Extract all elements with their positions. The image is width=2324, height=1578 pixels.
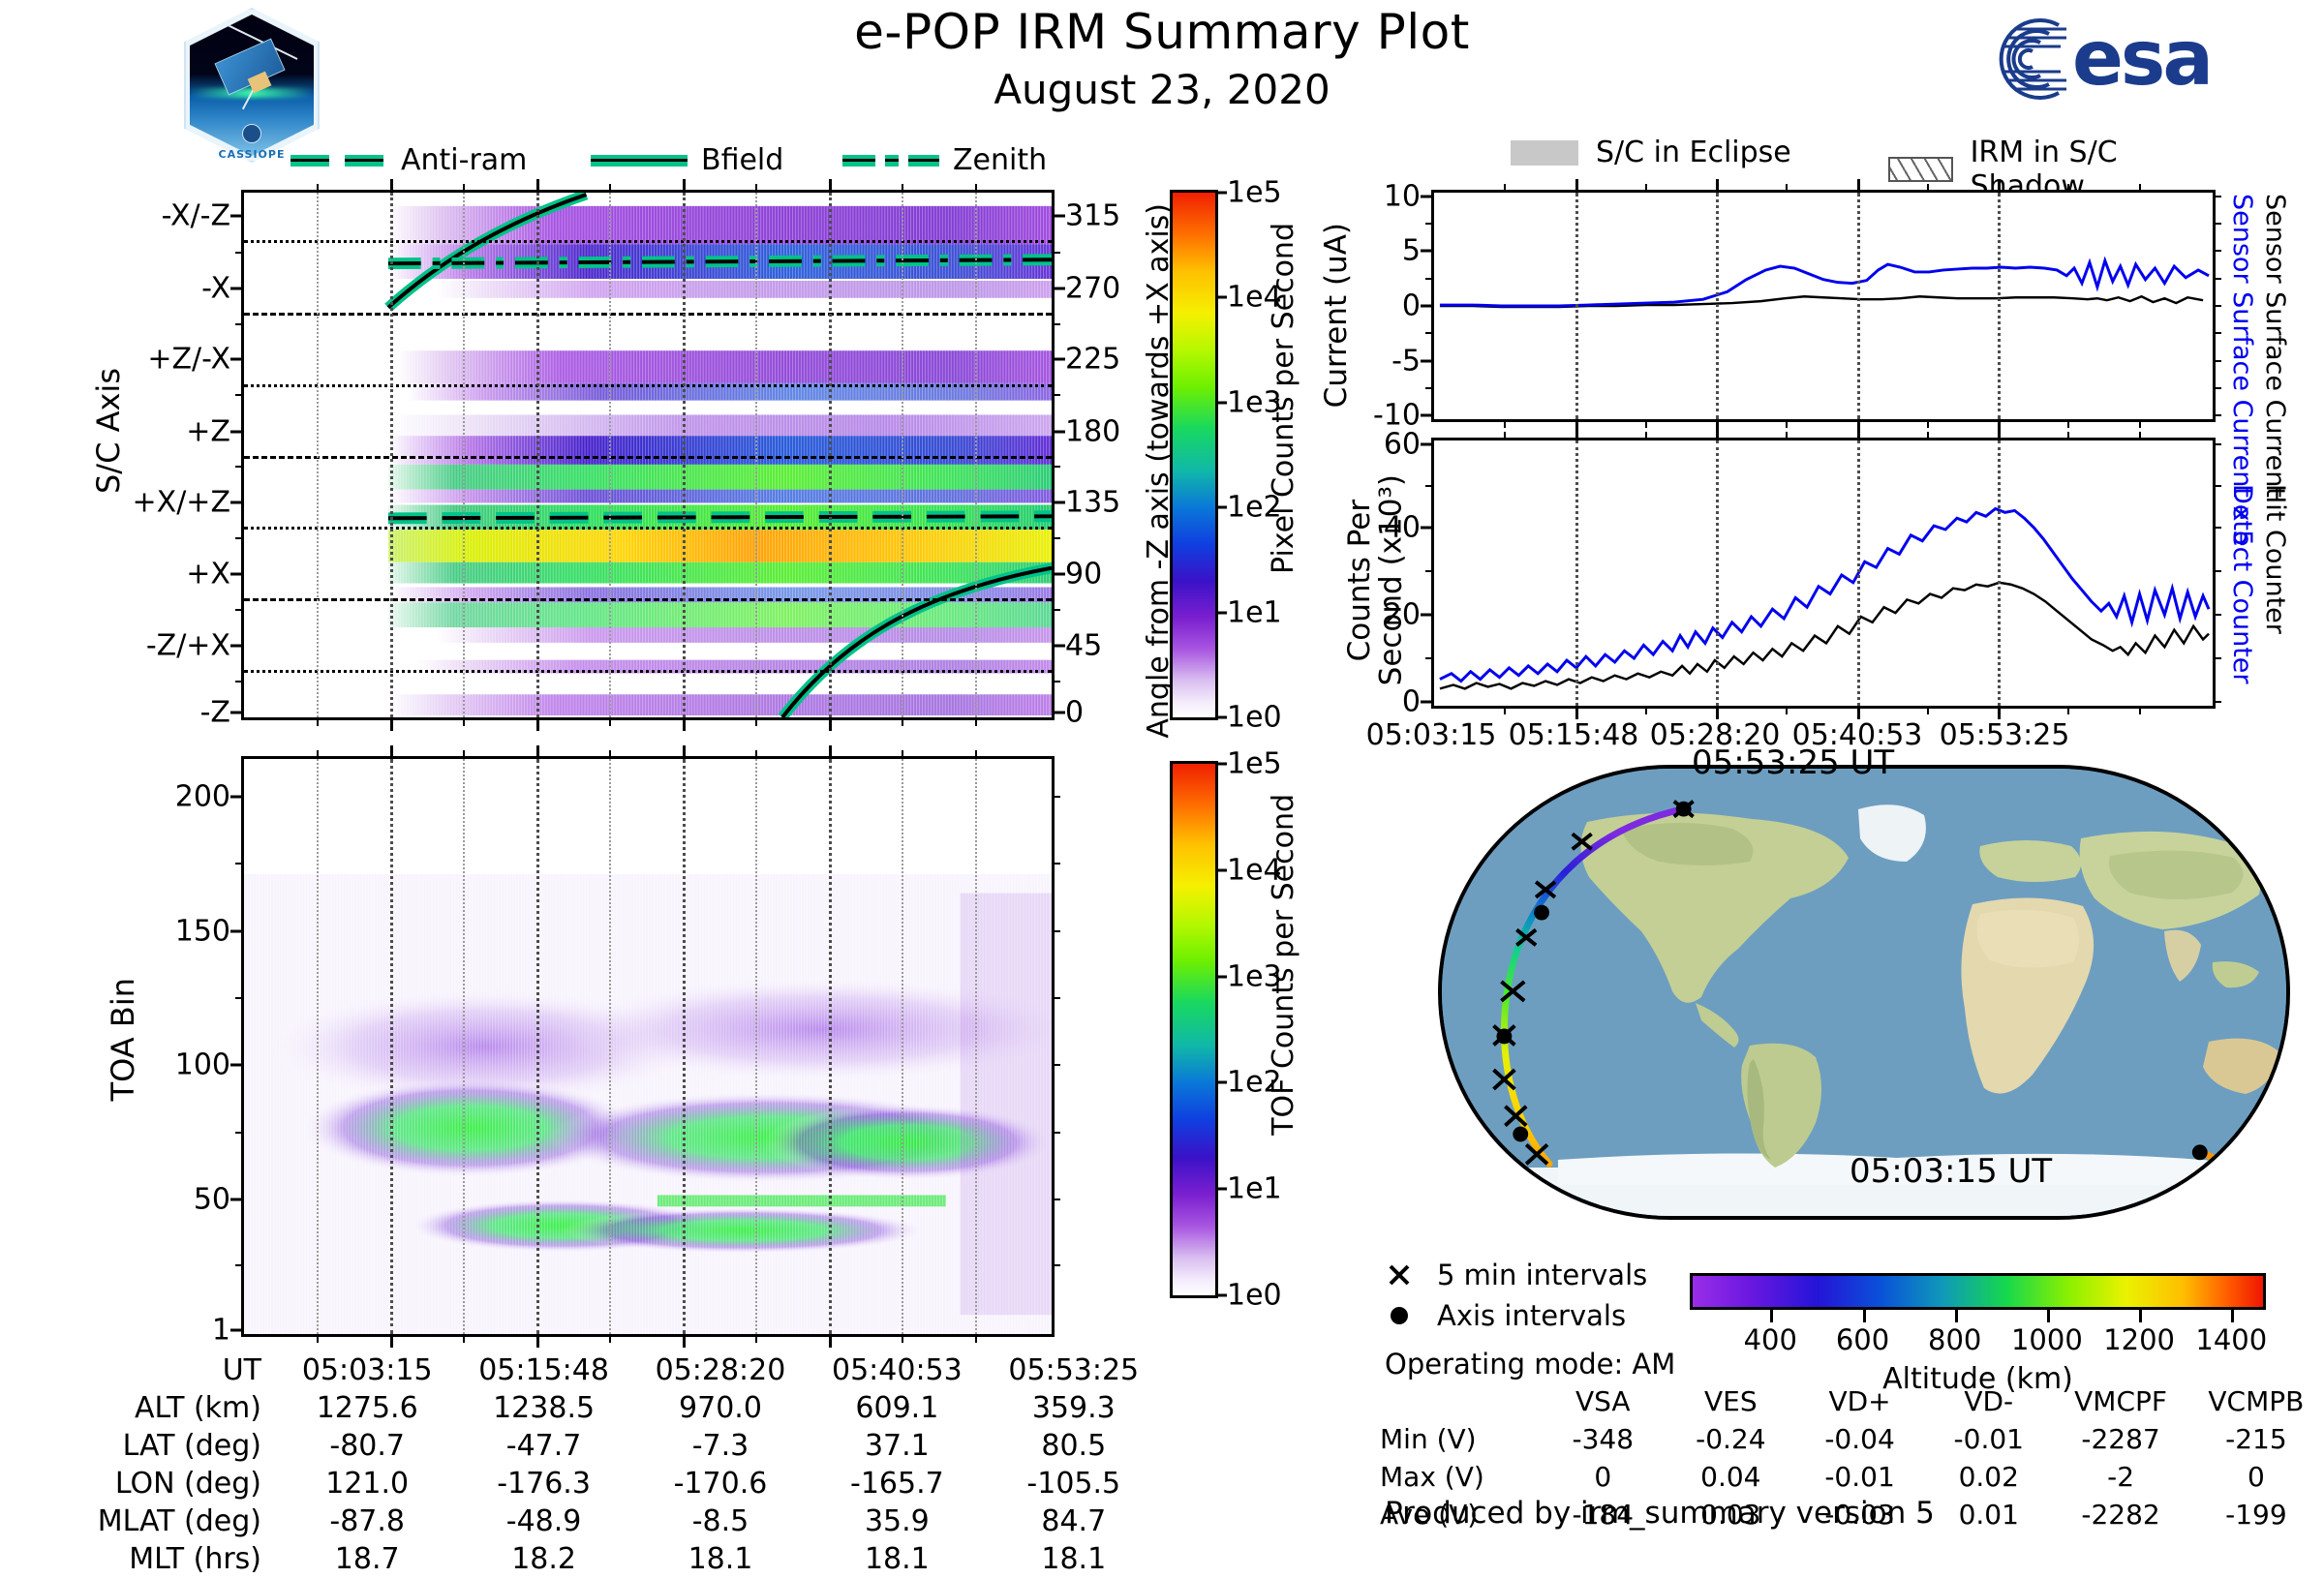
table-row: MLT (hrs) 18.7 18.2 18.1 18.1 18.1	[58, 1540, 1162, 1578]
sensor-current-panel[interactable]: 10 5 0 -5 -10	[1431, 190, 2216, 422]
table-row: LAT (deg) -80.7 -47.7 -7.3 37.1 80.5	[58, 1427, 1162, 1465]
legend-label-eclipse: S/C in Eclipse	[1596, 136, 1791, 169]
cell: -215	[2188, 1420, 2324, 1458]
altitude-colorbar: 400 600 800 1000 1200 1400 Altitude (km)	[1690, 1273, 2266, 1310]
table-header-row: VSA VES VD+ VD- VMCPF VCMPB	[1380, 1382, 2324, 1420]
cnt-xtick: 05:53:25	[1937, 718, 2072, 752]
row-label: ALT (km)	[58, 1389, 279, 1427]
cell: 84.7	[986, 1502, 1162, 1540]
col-header: VMCPF	[2053, 1382, 2187, 1420]
bfield-line-icon	[591, 155, 688, 167]
gridline-h	[244, 598, 1052, 601]
cell: 05:15:48	[455, 1351, 631, 1389]
spectrogram-legend: Anti-ram Bfield Zenith	[290, 143, 1026, 178]
gridline-h	[244, 313, 1052, 316]
cell: 35.9	[809, 1502, 985, 1540]
orbit-info-table: UT 05:03:15 05:15:48 05:28:20 05:40:53 0…	[58, 1351, 1162, 1578]
cell: -0.01	[1924, 1420, 2053, 1458]
legend-item-bfield: Bfield	[591, 143, 783, 177]
legend-label-bfield: Bfield	[701, 143, 783, 177]
toa-spectrogram-image	[244, 759, 1052, 1334]
anti-ram-line-icon	[290, 155, 387, 167]
cell: -2	[2053, 1458, 2187, 1496]
pixel-counts-colorbar: 1e5 1e4 1e3 1e2 1e1 1e0	[1170, 190, 1218, 720]
table-row: LON (deg) 121.0 -176.3 -170.6 -165.7 -10…	[58, 1465, 1162, 1502]
cell: 121.0	[279, 1465, 455, 1502]
footer-text: Produced by irm_summary version 5	[1385, 1496, 1935, 1531]
cnt-ytick: 60	[1384, 428, 1421, 462]
dot-marker-icon	[1385, 1301, 1414, 1330]
toa-ytick: 1	[212, 1313, 230, 1347]
cell: 0	[1540, 1458, 1667, 1496]
zenith-line-icon	[842, 155, 939, 167]
legend-item-anti-ram: Anti-ram	[290, 143, 527, 177]
cb-tick: 1e1	[1227, 595, 1282, 629]
legend-item-5min: 5 min intervals	[1385, 1259, 1675, 1291]
alt-tick: 1400	[2181, 1323, 2281, 1356]
spec-ytick-left: -X	[201, 271, 230, 305]
spec-ytick-right: 225	[1065, 343, 1120, 377]
toa-bin-spectrogram-panel[interactable]: 200 150 100 50 1	[241, 756, 1055, 1337]
table-row: Min (V) -348 -0.24 -0.04 -0.01 -2287 -21…	[1380, 1420, 2324, 1458]
cell: 1275.6	[279, 1389, 455, 1427]
cnt-xtick: 05:03:15	[1363, 718, 1499, 752]
cell: -7.3	[632, 1427, 809, 1465]
tof-counts-colorbar-title: TOF Counts per Second	[1267, 794, 1300, 1136]
map-label-end-time: 05:53:25 UT	[1692, 743, 1894, 782]
spec-ytick-right: 45	[1065, 629, 1102, 663]
row-label: Min (V)	[1380, 1420, 1540, 1458]
spec-ytick-right: 0	[1065, 695, 1084, 729]
counts-per-second-panel[interactable]: 60 40 20 0	[1431, 438, 2216, 709]
cell: 0	[2188, 1458, 2324, 1496]
gridline-h	[244, 670, 1052, 673]
toa-ytick: 100	[175, 1048, 230, 1082]
legend-label-axis: Axis intervals	[1437, 1299, 1626, 1332]
sc-axis-spectrogram-panel[interactable]: -X/-Z -X +Z/-X +Z +X/+Z +X -Z/+X -Z 315 …	[241, 190, 1055, 720]
alt-tick: 1000	[1997, 1323, 2097, 1356]
cell: -170.6	[632, 1465, 809, 1502]
cell: 37.1	[809, 1427, 985, 1465]
cell: 18.1	[632, 1540, 809, 1578]
cell: -80.7	[279, 1427, 455, 1465]
map-legend: 5 min intervals Axis intervals Operating…	[1385, 1259, 1675, 1381]
cell: -105.5	[986, 1465, 1162, 1502]
spec-ytick-left: +Z/-X	[147, 343, 230, 377]
legend-item-zenith: Zenith	[842, 143, 1047, 177]
cell: -348	[1540, 1420, 1667, 1458]
esa-wordmark: esa	[2072, 15, 2211, 103]
col-header: VD+	[1795, 1382, 1924, 1420]
counts-ylabel: Counts Per Second (x10³)	[1344, 474, 1407, 685]
cell: -199	[2188, 1496, 2324, 1533]
col-header: VCMPB	[2188, 1382, 2324, 1420]
current-ylabel: Current (uA)	[1319, 223, 1354, 408]
cell: -0.04	[1795, 1420, 1924, 1458]
cur-ytick: 5	[1402, 234, 1421, 268]
eclipse-shadow-legend: S/C in Eclipse IRM in S/C Shadow	[1511, 136, 2227, 174]
row-label: Max (V)	[1380, 1458, 1540, 1496]
toa-ytick: 50	[194, 1183, 230, 1217]
legend-item-axis: Axis intervals	[1385, 1299, 1675, 1332]
legend-item-sc-eclipse: S/C in Eclipse	[1511, 136, 1791, 169]
cell: -165.7	[809, 1465, 985, 1502]
eclipse-swatch-icon	[1511, 140, 1578, 166]
operating-mode-label: Operating mode: AM	[1385, 1348, 1675, 1381]
table-row: ALT (km) 1275.6 1238.5 970.0 609.1 359.3	[58, 1389, 1162, 1427]
col-header: VES	[1667, 1382, 1795, 1420]
spec-ytick-left: +X/+Z	[133, 486, 230, 520]
cb-tick: 1e5	[1227, 747, 1282, 781]
alt-tick: 800	[1911, 1323, 1999, 1356]
cross-marker-icon	[1385, 1260, 1414, 1290]
cell: 05:40:53	[809, 1351, 985, 1389]
gridline-h	[244, 456, 1052, 459]
cur-ytick: 10	[1384, 179, 1421, 213]
cb-tick: 1e0	[1227, 701, 1282, 735]
spec-ytick-right: 135	[1065, 486, 1120, 520]
cell: 05:03:15	[279, 1351, 455, 1389]
cell: 0.04	[1667, 1458, 1795, 1496]
legend-label-5min: 5 min intervals	[1437, 1259, 1647, 1291]
cur-ytick: -5	[1391, 344, 1421, 378]
map-label-start-time: 05:03:15 UT	[1850, 1152, 2052, 1191]
alt-tick: 1200	[2089, 1323, 2189, 1356]
cell: -2287	[2053, 1420, 2187, 1458]
gridline-h	[244, 240, 1052, 243]
cb-tick: 1e0	[1227, 1279, 1282, 1313]
col-header: VD-	[1924, 1382, 2053, 1420]
cell: 18.1	[809, 1540, 985, 1578]
counts-ylabel-line1: Counts Per	[1342, 499, 1377, 660]
cnt-xtick: 05:15:48	[1506, 718, 1641, 752]
cell: -8.5	[632, 1502, 809, 1540]
esa-logo: esa	[1966, 10, 2256, 106]
cell: 18.1	[986, 1540, 1162, 1578]
spec-ytick-right: 180	[1065, 414, 1120, 448]
cell: -0.24	[1667, 1420, 1795, 1458]
cassiope-mission-patch: CASSIOPE	[184, 8, 320, 163]
spec-ytick-right: 90	[1065, 558, 1102, 592]
cnt-ytick: 0	[1402, 684, 1421, 718]
cell: 05:28:20	[632, 1351, 809, 1389]
counts-right-label-blue: Detect Counter	[2227, 484, 2257, 684]
col-header: VSA	[1540, 1382, 1667, 1420]
ground-track-map[interactable]: 05:53:25 UT 05:03:15 UT	[1438, 765, 2290, 1220]
spec-ylabel-left: S/C Axis	[90, 368, 127, 494]
gridline-h	[244, 527, 1052, 530]
table-row: Max (V) 0 0.04 -0.01 0.02 -2 0	[1380, 1458, 2324, 1496]
cell: 18.7	[279, 1540, 455, 1578]
cell: 80.5	[986, 1427, 1162, 1465]
spec-ytick-left: -Z	[200, 695, 230, 729]
row-label: MLAT (deg)	[58, 1502, 279, 1540]
cell: 609.1	[809, 1389, 985, 1427]
alt-tick: 400	[1727, 1323, 1814, 1356]
esa-arcs-icon	[1966, 17, 2070, 101]
counts-ylabel-line2: Second (x10³)	[1374, 474, 1409, 685]
cb-tick: 1e1	[1227, 1172, 1282, 1206]
table-row: UT 05:03:15 05:15:48 05:28:20 05:40:53 0…	[58, 1351, 1162, 1389]
spec-ytick-left: -X/-Z	[162, 199, 230, 233]
cell: -2282	[2053, 1496, 2187, 1533]
pixel-counts-colorbar-title: Pixel Counts per Second	[1267, 223, 1300, 574]
row-label: LAT (deg)	[58, 1427, 279, 1465]
cb-tick: 1e5	[1227, 176, 1282, 210]
cell: -176.3	[455, 1465, 631, 1502]
cell: 1238.5	[455, 1389, 631, 1427]
patch-emblem-icon	[242, 124, 261, 143]
cell: -47.7	[455, 1427, 631, 1465]
row-label: UT	[58, 1351, 279, 1389]
spec-ytick-left: +Z	[186, 414, 230, 448]
row-label: MLT (hrs)	[58, 1540, 279, 1578]
toa-ylabel: TOA Bin	[105, 978, 141, 1101]
alt-tick: 600	[1819, 1323, 1907, 1356]
current-series-plot	[1434, 193, 2213, 419]
current-right-label-black: Sensor Surface Current	[2260, 194, 2290, 498]
legend-label-anti-ram: Anti-ram	[401, 143, 527, 177]
gridline-h	[244, 384, 1052, 387]
legend-label-zenith: Zenith	[953, 143, 1047, 177]
cell: 0.02	[1924, 1458, 2053, 1496]
toa-ytick: 150	[175, 914, 230, 948]
spec-ytick-left: +X	[186, 558, 230, 592]
counts-right-label-black: Hit Counter	[2260, 484, 2290, 634]
cell: 970.0	[632, 1389, 809, 1427]
cell: 18.2	[455, 1540, 631, 1578]
spec-ytick-right: 315	[1065, 199, 1120, 233]
cell: -0.01	[1795, 1458, 1924, 1496]
spec-ytick-left: -Z/+X	[146, 629, 230, 663]
tof-counts-colorbar: 1e5 1e4 1e3 1e2 1e1 1e0	[1170, 761, 1218, 1298]
cell: 0.01	[1924, 1496, 2053, 1533]
cell: -48.9	[455, 1502, 631, 1540]
counts-series-plot	[1434, 440, 2213, 706]
cur-ytick: 0	[1402, 289, 1421, 323]
row-label: LON (deg)	[58, 1465, 279, 1502]
shadow-hatch-icon	[1888, 157, 1953, 182]
table-row: MLAT (deg) -87.8 -48.9 -8.5 35.9 84.7	[58, 1502, 1162, 1540]
cell: 05:53:25	[986, 1351, 1162, 1389]
cell: -87.8	[279, 1502, 455, 1540]
toa-ytick: 200	[175, 779, 230, 813]
spec-ytick-right: 270	[1065, 271, 1120, 305]
cell: 359.3	[986, 1389, 1162, 1427]
